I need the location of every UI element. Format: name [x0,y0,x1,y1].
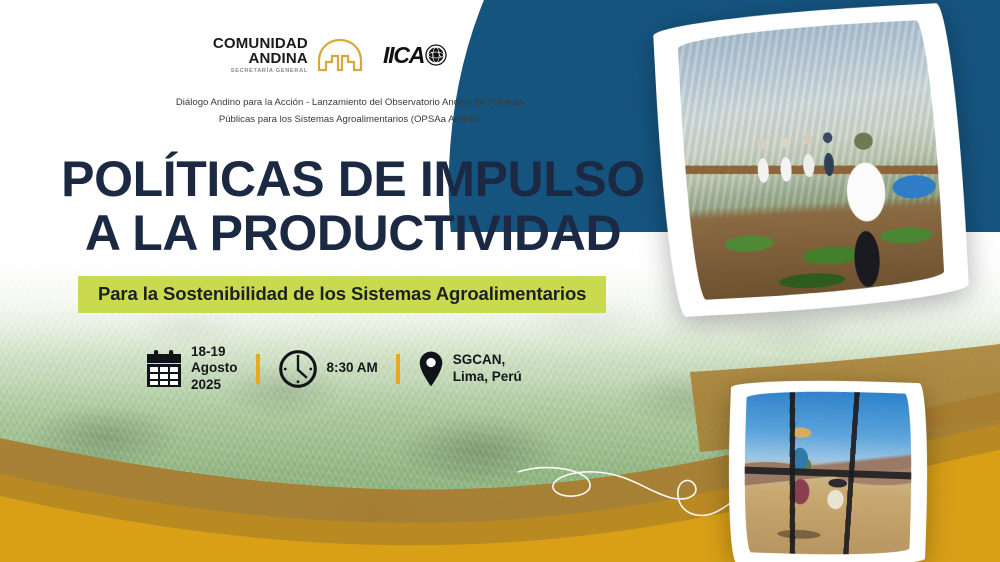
can-line-3: SECRETARÍA GENERAL [213,69,308,75]
location-line-1: SGCAN, [453,352,522,368]
comunidad-andina-wordmark: COMUNIDAD ANDINA SECRETARÍA GENERAL [213,36,308,74]
logo-row: COMUNIDAD ANDINA SECRETARÍA GENERAL IICA [0,36,660,74]
map-pin-icon [418,350,444,388]
poster-content: COMUNIDAD ANDINA SECRETARÍA GENERAL IICA [0,0,1000,562]
title-line-1: POLÍTICAS DE IMPULSO [0,152,706,206]
logo-iica: IICA [383,42,447,69]
andean-arch-icon [315,37,365,73]
event-subtitle: Diálogo Andino para la Acción - Lanzamie… [0,95,700,128]
time-text: 8:30 AM [327,360,378,376]
location-text: SGCAN, Lima, Perú [453,352,522,385]
date-text: 18-19 Agosto 2025 [191,344,238,393]
can-line-2: ANDINA [213,51,308,66]
event-info-row: 18-19 Agosto 2025 8:30 AM [146,344,522,393]
info-date: 18-19 Agosto 2025 [146,344,238,393]
event-poster: COMUNIDAD ANDINA SECRETARÍA GENERAL IICA [0,0,1000,562]
date-line-1: 18-19 [191,344,238,360]
ribbon-label: Para la Sostenibilidad de los Sistemas A… [98,283,586,304]
info-divider [396,354,400,384]
clock-icon [278,349,318,389]
event-subtitle-line-2: Públicas para los Sistemas Agroalimentar… [0,112,700,129]
globe-icon [425,44,447,66]
info-location: SGCAN, Lima, Perú [418,350,522,388]
can-line-1: COMUNIDAD [213,36,308,51]
date-line-3: 2025 [191,377,238,393]
calendar-icon [146,350,182,388]
date-line-2: Agosto [191,360,238,376]
poster-title: POLÍTICAS DE IMPULSO A LA PRODUCTIVIDAD [0,152,706,260]
logo-comunidad-andina: COMUNIDAD ANDINA SECRETARÍA GENERAL [213,36,365,74]
subtitle-ribbon: Para la Sostenibilidad de los Sistemas A… [78,276,606,313]
info-time: 8:30 AM [278,349,378,389]
location-line-2: Lima, Perú [453,369,522,385]
title-line-2: A LA PRODUCTIVIDAD [0,206,706,260]
iica-wordmark: IICA [383,42,424,69]
info-divider [256,354,260,384]
event-subtitle-line-1: Diálogo Andino para la Acción - Lanzamie… [0,95,700,112]
